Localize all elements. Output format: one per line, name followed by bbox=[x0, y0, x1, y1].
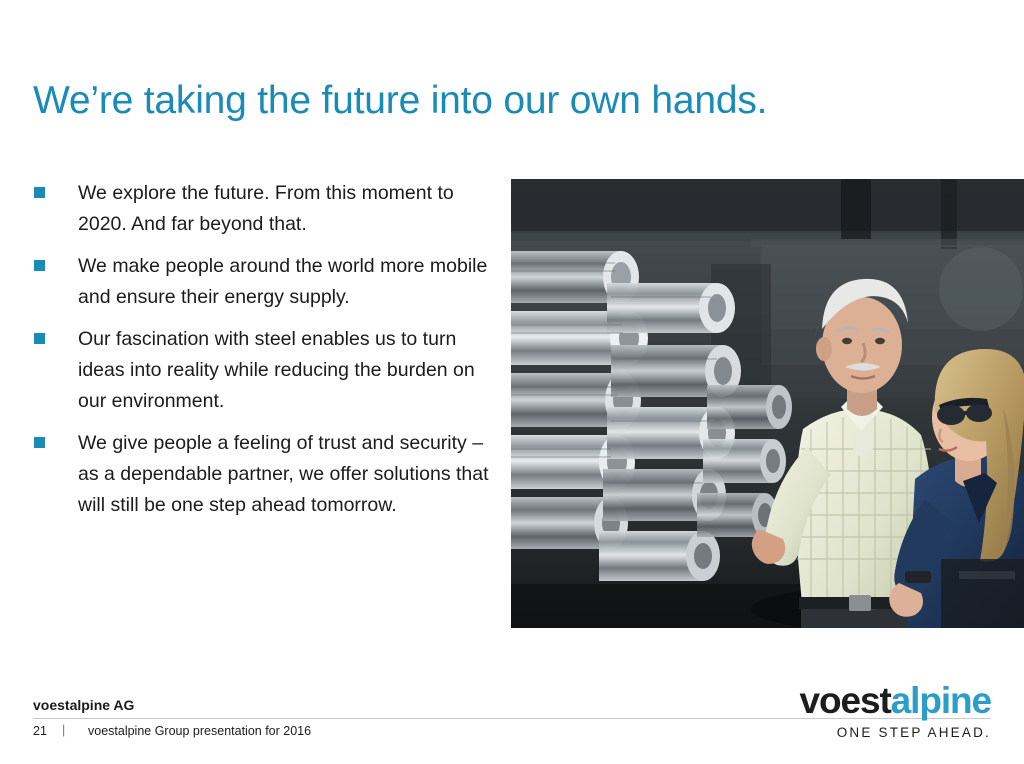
bullet-text: Our fascination with steel enables us to… bbox=[78, 324, 504, 417]
list-item: We explore the future. From this moment … bbox=[34, 178, 504, 240]
page-number: 21 bbox=[33, 724, 47, 738]
slide-image bbox=[511, 179, 1024, 628]
logo-tagline: ONE STEP AHEAD. bbox=[800, 725, 991, 740]
bullet-text: We give people a feeling of trust and se… bbox=[78, 428, 504, 521]
square-bullet-icon bbox=[34, 187, 45, 198]
list-item: We make people around the world more mob… bbox=[34, 251, 504, 313]
footer-presentation-title: voestalpine Group presentation for 2016 bbox=[88, 724, 311, 738]
footer-separator: | bbox=[62, 723, 65, 737]
logo-word-voest: voest bbox=[800, 680, 891, 721]
page-title: We’re taking the future into our own han… bbox=[33, 79, 767, 123]
slide: We’re taking the future into our own han… bbox=[0, 0, 1024, 764]
bullet-text: We explore the future. From this moment … bbox=[78, 178, 504, 240]
logo-word-alpine: alpine bbox=[891, 680, 991, 721]
factory-photo-illustration bbox=[511, 179, 1024, 628]
bullet-text: We make people around the world more mob… bbox=[78, 251, 504, 313]
square-bullet-icon bbox=[34, 333, 45, 344]
voestalpine-logo: voestalpine ONE STEP AHEAD. bbox=[800, 680, 991, 740]
logo-wordmark: voestalpine bbox=[800, 680, 991, 722]
bullet-list: We explore the future. From this moment … bbox=[34, 178, 504, 532]
list-item: We give people a feeling of trust and se… bbox=[34, 428, 504, 521]
square-bullet-icon bbox=[34, 437, 45, 448]
footer-company: voestalpine AG bbox=[33, 697, 134, 713]
list-item: Our fascination with steel enables us to… bbox=[34, 324, 504, 417]
square-bullet-icon bbox=[34, 260, 45, 271]
